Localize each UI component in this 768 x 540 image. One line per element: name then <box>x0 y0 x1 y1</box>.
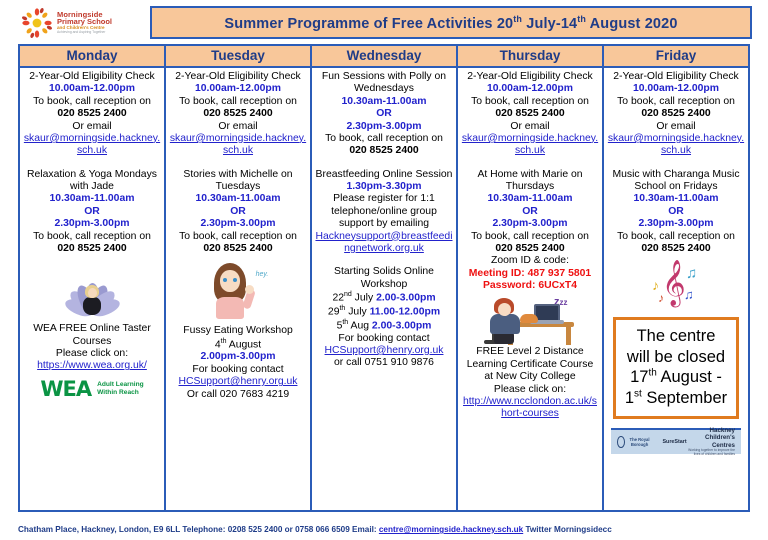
activity-title: 2-Year-Old Eligibility Check <box>461 71 599 83</box>
activity-level2-course: FREE Level 2 Distance Learning Certifica… <box>461 346 599 420</box>
phone-number: 020 8525 2400 <box>23 108 161 120</box>
or-email-label: Or email <box>169 121 307 133</box>
activity-time: 10.00am-12.00pm <box>169 83 307 95</box>
or-separator: OR <box>315 108 453 120</box>
column-tuesday: Tuesday 2-Year-Old Eligibility Check 10.… <box>164 44 310 512</box>
column-body-tuesday: 2-Year-Old Eligibility Check 10.00am-12.… <box>166 68 310 510</box>
school-logo: Morningside Primary School and Children'… <box>20 6 140 40</box>
column-wednesday: Wednesday Fun Sessions with Polly on Wed… <box>310 44 456 512</box>
notice-line-4: 1st September <box>618 388 734 408</box>
greeting-caption: hey. <box>256 271 269 279</box>
email-link[interactable]: skaur@morningside.hackney.sch.uk <box>23 133 161 158</box>
activity-date-3: 5th Aug 2.00-3.00pm <box>315 319 453 333</box>
zoom-meeting-id: Meeting ID: 487 937 5801 <box>461 268 599 280</box>
activity-eligibility-check: 2-Year-Old Eligibility Check 10.00am-12.… <box>607 71 745 158</box>
booking-instruction: For booking contact <box>315 333 453 345</box>
activity-title: Relaxation & Yoga Mondays with Jade <box>23 169 161 194</box>
activity-time-1: 10.30am-11.00am <box>315 96 453 108</box>
phone-number: 020 8525 2400 <box>461 108 599 120</box>
person-at-laptop-icon: zzz <box>461 294 599 346</box>
activity-date: 4th August <box>169 338 307 352</box>
email-link[interactable]: HCSupport@henry.org.uk <box>169 376 307 388</box>
column-thursday: Thursday 2-Year-Old Eligibility Check 10… <box>456 44 602 512</box>
partner-right: Hackney Children's Centres Working toget… <box>687 427 735 457</box>
booking-instruction: To book, call reception on <box>461 96 599 108</box>
poster-page: Morningside Primary School and Children'… <box>0 0 768 540</box>
zoom-password: Password: 6UCxT4 <box>461 280 599 292</box>
day-header-monday: Monday <box>20 46 164 68</box>
activity-breastfeeding-session: Breastfeeding Online Session 1.30pm-3.30… <box>315 169 453 256</box>
activity-description: Please register for 1:1 telephone/online… <box>315 193 453 230</box>
school-logo-text: Morningside Primary School and Children'… <box>57 11 112 34</box>
poster-title-box: Summer Programme of Free Activities 20th… <box>150 6 752 39</box>
or-email-label: Or email <box>461 121 599 133</box>
activity-fussy-eating: Fussy Eating Workshop 4th August 2.00pm-… <box>169 325 307 401</box>
phone-number: 020 8525 2400 <box>169 108 307 120</box>
booking-instruction: To book, call reception on <box>461 231 599 243</box>
activity-at-home-marie: At Home with Marie on Thursdays 10.30am-… <box>461 169 599 293</box>
activity-time: 10.00am-12.00pm <box>461 83 599 95</box>
activity-stories-michelle: Stories with Michelle on Tuesdays 10.30a… <box>169 169 307 256</box>
activity-time-2: 2.30pm-3.00pm <box>169 218 307 230</box>
column-friday: Friday 2-Year-Old Eligibility Check 10.0… <box>602 44 750 512</box>
email-link[interactable]: skaur@morningside.hackney.sch.uk <box>169 133 307 158</box>
activity-title: Music with Charanga Music School on Frid… <box>607 169 745 194</box>
header-bar: Morningside Primary School and Children'… <box>0 0 768 42</box>
phone-number: 020 8525 2400 <box>461 243 599 255</box>
activity-time-1: 10.30am-11.00am <box>607 193 745 205</box>
partner-left: The Royal Borough SureStart <box>617 436 687 448</box>
column-body-thursday: 2-Year-Old Eligibility Check 10.00am-12.… <box>458 68 602 510</box>
activity-time-1: 10.30am-11.00am <box>461 193 599 205</box>
activity-time: 10.00am-12.00pm <box>23 83 161 95</box>
activity-eligibility-check: 2-Year-Old Eligibility Check 10.00am-12.… <box>461 71 599 158</box>
activity-fun-sessions-polly: Fun Sessions with Polly on Wednesdays 10… <box>315 71 453 158</box>
borough-label: The Royal Borough <box>629 437 651 447</box>
wea-logo-mark: WEA <box>40 377 91 402</box>
activity-time-2: 2.30pm-3.00pm <box>315 121 453 133</box>
footer-address: Chatham Place, Hackney, London, E9 6LL T… <box>18 525 379 534</box>
activity-time: 1.30pm-3.30pm <box>315 181 453 193</box>
hackney-cc-title: Hackney Children's Centres <box>687 427 735 449</box>
phone-instruction: or call 0751 910 9876 <box>315 357 453 369</box>
activity-title: FREE Level 2 Distance Learning Certifica… <box>461 346 599 383</box>
column-body-friday: 2-Year-Old Eligibility Check 10.00am-12.… <box>604 68 748 510</box>
activity-title: Fussy Eating Workshop <box>169 325 307 337</box>
partner-logos-bar: The Royal Borough SureStart Hackney Chil… <box>611 428 741 454</box>
column-body-monday: 2-Year-Old Eligibility Check 10.00am-12.… <box>20 68 164 510</box>
activity-title: At Home with Marie on Thursdays <box>461 169 599 194</box>
booking-instruction: To book, call reception on <box>23 96 161 108</box>
activity-yoga: Relaxation & Yoga Mondays with Jade 10.3… <box>23 169 161 256</box>
phone-number: 020 8525 2400 <box>169 243 307 255</box>
activity-date-2: 29th July 11.00-12.00pm <box>315 305 453 319</box>
notice-line-2: will be closed <box>618 347 734 367</box>
centre-closed-notice: The centre will be closed 17th August - … <box>613 317 739 419</box>
or-separator: OR <box>461 206 599 218</box>
or-separator: OR <box>23 206 161 218</box>
column-body-wednesday: Fun Sessions with Polly on Wednesdays 10… <box>312 68 456 510</box>
day-header-thursday: Thursday <box>458 46 602 68</box>
or-email-label: Or email <box>23 121 161 133</box>
or-email-label: Or email <box>607 121 745 133</box>
page-title: Summer Programme of Free Activities 20th… <box>224 14 677 32</box>
click-instruction: Please click on: <box>461 384 599 396</box>
hackney-cc-subtitle: Working together to improve the lives of… <box>687 449 735 457</box>
activity-title: Starting Solids Online Workshop <box>315 266 453 291</box>
or-separator: OR <box>607 206 745 218</box>
activity-title: Fun Sessions with Polly on Wednesdays <box>315 71 453 96</box>
day-header-tuesday: Tuesday <box>166 46 310 68</box>
booking-instruction: For booking contact <box>169 364 307 376</box>
michelle-waving-icon: hey. <box>169 259 307 319</box>
activity-date-1: 22nd July 2.00-3.00pm <box>315 291 453 305</box>
booking-instruction: To book, call reception on <box>169 96 307 108</box>
activity-time-2: 2.30pm-3.00pm <box>23 218 161 230</box>
activity-title: 2-Year-Old Eligibility Check <box>23 71 161 83</box>
day-header-friday: Friday <box>604 46 748 68</box>
notice-line-1: The centre <box>618 326 734 346</box>
activity-title: Stories with Michelle on Tuesdays <box>169 169 307 194</box>
email-link[interactable]: skaur@morningside.hackney.sch.uk <box>461 133 599 158</box>
activity-time: 2.00pm-3.00pm <box>169 351 307 363</box>
phone-number: 020 8525 2400 <box>23 243 161 255</box>
activity-time-1: 10.30am-11.00am <box>23 193 161 205</box>
phone-number: 020 8525 2400 <box>607 243 745 255</box>
phone-instruction: Or call 020 7683 4219 <box>169 389 307 401</box>
activity-title: Breastfeeding Online Session <box>315 169 453 181</box>
activity-eligibility-check: 2-Year-Old Eligibility Check 10.00am-12.… <box>169 71 307 158</box>
footer-twitter: Twitter Morningsidecc <box>523 525 612 534</box>
activity-time-2: 2.30pm-3.00pm <box>607 218 745 230</box>
sun-burst-logo-icon <box>20 6 54 40</box>
phone-number: 020 8525 2400 <box>315 145 453 157</box>
booking-instruction: To book, call reception on <box>169 231 307 243</box>
surestart-label: SureStart <box>662 439 686 445</box>
phone-number: 020 8525 2400 <box>607 108 745 120</box>
activity-time: 10.00am-12.00pm <box>607 83 745 95</box>
email-link[interactable]: HCSupport@henry.org.uk <box>315 345 453 357</box>
activity-title: 2-Year-Old Eligibility Check <box>169 71 307 83</box>
yoga-lotus-icon <box>23 259 161 317</box>
activity-starting-solids: Starting Solids Online Workshop 22nd Jul… <box>315 266 453 369</box>
booking-instruction: To book, call reception on <box>607 96 745 108</box>
activity-eligibility-check: 2-Year-Old Eligibility Check 10.00am-12.… <box>23 71 161 158</box>
activity-wea-courses: WEA FREE Online Taster Courses Please cl… <box>23 323 161 373</box>
booking-instruction: To book, call reception on <box>23 231 161 243</box>
or-separator: OR <box>169 206 307 218</box>
activity-title: WEA FREE Online Taster Courses <box>23 323 161 348</box>
click-instruction: Please click on: <box>23 348 161 360</box>
wea-logo-tagline: Adult Learning Within Reach <box>97 381 144 397</box>
column-monday: Monday 2-Year-Old Eligibility Check 10.0… <box>18 44 164 512</box>
activity-title: 2-Year-Old Eligibility Check <box>607 71 745 83</box>
logo-line-4: Achieving and Aspiring Together <box>57 31 112 34</box>
email-link[interactable]: skaur@morningside.hackney.sch.uk <box>607 133 745 158</box>
activity-time-1: 10.30am-11.00am <box>169 193 307 205</box>
activity-charanga-music: Music with Charanga Music School on Frid… <box>607 169 745 256</box>
footer-contact-line: Chatham Place, Hackney, London, E9 6LL T… <box>18 525 758 534</box>
booking-instruction: To book, call reception on <box>315 133 453 145</box>
course-website-link[interactable]: http://www.ncclondon.ac.uk/short-courses <box>461 396 599 421</box>
weekly-schedule-grid: Monday 2-Year-Old Eligibility Check 10.0… <box>18 44 750 512</box>
zoom-label: Zoom ID & code: <box>461 255 599 267</box>
footer-email-link[interactable]: centre@morningside.hackney.sch.uk <box>379 525 523 534</box>
music-notes-icon: 𝄞 ♫ ♪ ♫ ♪ <box>607 259 745 309</box>
booking-instruction: To book, call reception on <box>607 231 745 243</box>
notice-line-3: 17th August - <box>618 367 734 387</box>
wea-logo: WEA Adult Learning Within Reach <box>23 377 161 402</box>
borough-emblem-icon <box>617 436 625 448</box>
wea-website-link[interactable]: https://www.wea.org.uk/ <box>23 360 161 372</box>
activity-time-2: 2.30pm-3.00pm <box>461 218 599 230</box>
email-link[interactable]: Hackneysupport@breastfeedingnetwork.org.… <box>315 231 453 256</box>
day-header-wednesday: Wednesday <box>312 46 456 68</box>
